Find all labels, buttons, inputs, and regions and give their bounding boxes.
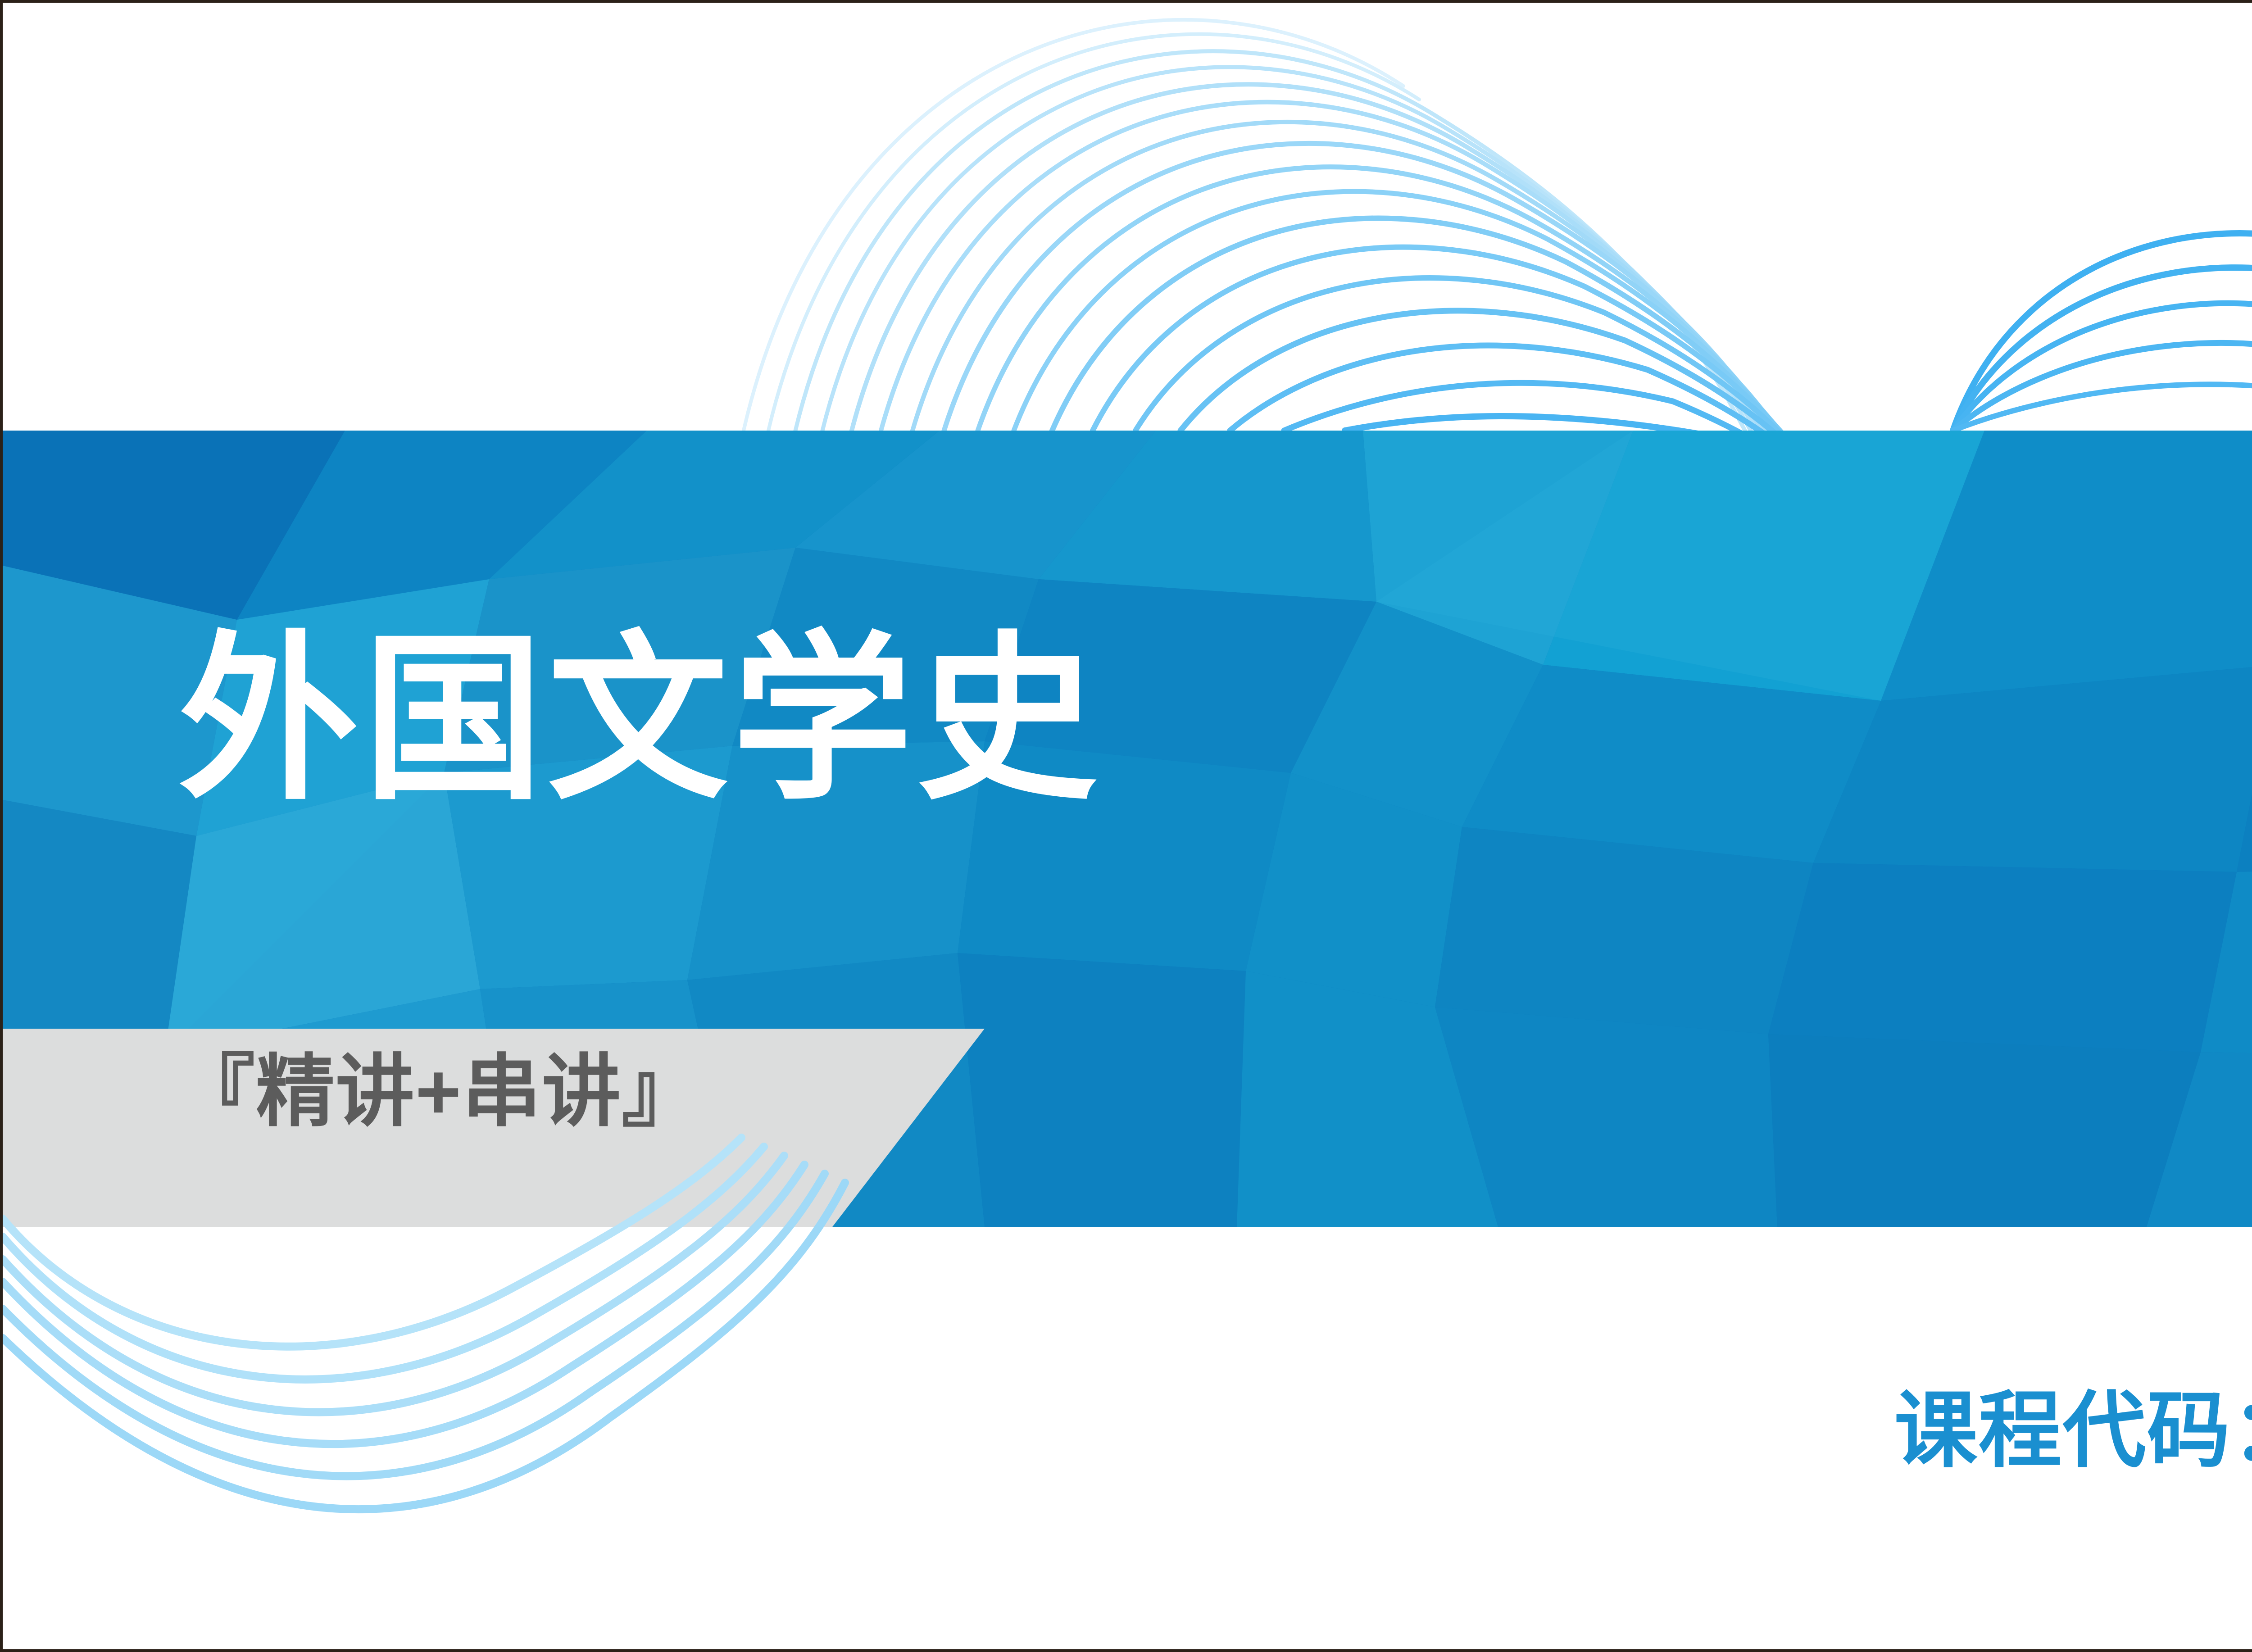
slide-canvas: 外国文学史 『精讲+串讲』 课程代码：00540 bbox=[0, 0, 2252, 1652]
course-code: 课程代码：00540 bbox=[1894, 1381, 2252, 1481]
page-title: 外国文学史 bbox=[178, 624, 1102, 815]
subtitle-text: 『精讲+串讲』 bbox=[176, 1047, 701, 1137]
title-text: 外国文学史 bbox=[178, 624, 1102, 815]
subtitle: 『精讲+串讲』 bbox=[176, 1047, 701, 1137]
